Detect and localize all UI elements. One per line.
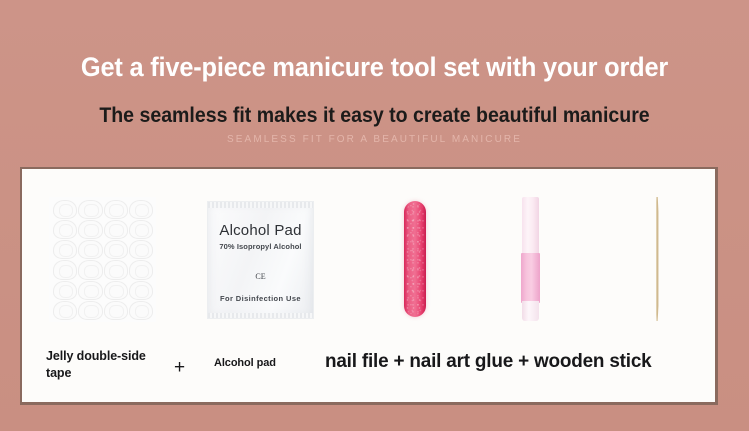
tape-tab [53, 220, 77, 239]
tape-tab [104, 240, 128, 259]
tape-tab [53, 260, 77, 279]
page-tagline: SEAMLESS FIT FOR A BEAUTIFUL MANICURE [0, 133, 749, 147]
tape-tab [129, 200, 153, 219]
tape-tab [104, 200, 128, 219]
glue-cap [522, 197, 539, 255]
promo-banner: Get a five-piece manicure tool set with … [0, 0, 749, 431]
glue-body [521, 253, 540, 303]
tape-tab [78, 220, 102, 239]
tape-tab [104, 260, 128, 279]
packet-subtitle-text: 70% Isopropyl Alcohol [208, 242, 313, 251]
product-labels-row: Jelly double-side tape + Alcohol pad nai… [22, 337, 715, 403]
label-jelly-double-side-tape: Jelly double-side tape [46, 348, 166, 382]
alcohol-packet-icon: Alcohol Pad 70% Isopropyl Alcohol CE For… [207, 201, 314, 319]
tape-tab [78, 200, 102, 219]
nail-file-icon [404, 201, 426, 317]
wooden-stick-icon [654, 197, 660, 321]
tape-tab [104, 281, 128, 300]
glue-bottle-icon [521, 197, 540, 321]
tape-tab [53, 200, 77, 219]
tape-tab [78, 260, 102, 279]
label-alcohol-pad: Alcohol pad [214, 357, 276, 369]
page-subtitle: The seamless fit makes it easy to create… [26, 103, 723, 129]
tape-tab [104, 301, 128, 320]
tape-tab [129, 301, 153, 320]
tape-tab [129, 220, 153, 239]
tape-tab [53, 281, 77, 300]
product-images-row: Alcohol Pad 70% Isopropyl Alcohol CE For… [22, 169, 715, 337]
tape-tab [129, 281, 153, 300]
tape-tab [78, 281, 102, 300]
tape-tab [78, 301, 102, 320]
tape-tab [53, 240, 77, 259]
packet-ce-mark: CE [208, 272, 313, 281]
tape-tab [104, 220, 128, 239]
tape-tab [53, 301, 77, 320]
product-set-panel: Alcohol Pad 70% Isopropyl Alcohol CE For… [20, 167, 718, 405]
stick-body [656, 197, 659, 321]
packet-title-text: Alcohol Pad [208, 222, 313, 239]
glue-base [522, 301, 539, 321]
plus-separator: + [174, 357, 185, 379]
label-tools-combo: nail file + nail art glue + wooden stick [325, 350, 651, 373]
tape-sheet-icon [49, 197, 156, 322]
tape-tab [129, 260, 153, 279]
page-title: Get a five-piece manicure tool set with … [22, 51, 726, 83]
packet-usage-text: For Disinfection Use [208, 294, 313, 303]
tape-tab [78, 240, 102, 259]
tape-tab-grid [53, 200, 153, 320]
tape-tab [129, 240, 153, 259]
